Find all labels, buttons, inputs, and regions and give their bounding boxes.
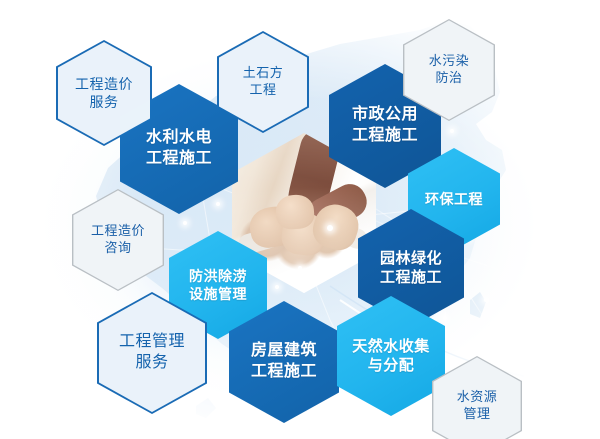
hexagon-label: 工程造价 咨询 <box>91 223 145 257</box>
hexagon-label: 工程造价 服务 <box>75 75 133 111</box>
hexagon-badge-gongcheng-guanli-fuwu[interactable]: 工程管理 服务 <box>97 292 207 414</box>
hexagon-label: 工程管理 服务 <box>119 332 185 374</box>
hexagon-badge-tianranshui-shouji[interactable]: 天然水收集 与分配 <box>337 296 445 416</box>
hexagon-label: 水资源 管理 <box>457 389 498 423</box>
hexagon-label: 天然水收集 与分配 <box>352 337 430 376</box>
hexagon-label: 市政公用 工程施工 <box>352 105 418 147</box>
hexagon-label: 房屋建筑 工程施工 <box>251 341 317 383</box>
hexagon-label: 防洪除涝 设施管理 <box>189 267 247 303</box>
hexagon-label: 环保工程 <box>425 190 483 208</box>
hexagon-label: 土石方 工程 <box>243 65 284 99</box>
hexagon-badge-shuiziyuan-guanli[interactable]: 水资源 管理 <box>432 356 522 439</box>
hexagon-label: 水利水电 工程施工 <box>146 128 212 170</box>
hexagon-badge-fangwu-jianzhu-shigong[interactable]: 房屋建筑 工程施工 <box>229 301 339 423</box>
infographic-canvas: 工程造价 服务土石方 工程水利水电 工程施工市政公用 工程施工水污染 防治环保工… <box>0 0 600 439</box>
hexagon-badge-gongcheng-zaojia-zixun[interactable]: 工程造价 咨询 <box>72 189 164 291</box>
hexagon-label: 水污染 防治 <box>429 53 470 87</box>
hexagon-label: 园林绿化 工程施工 <box>380 249 442 288</box>
